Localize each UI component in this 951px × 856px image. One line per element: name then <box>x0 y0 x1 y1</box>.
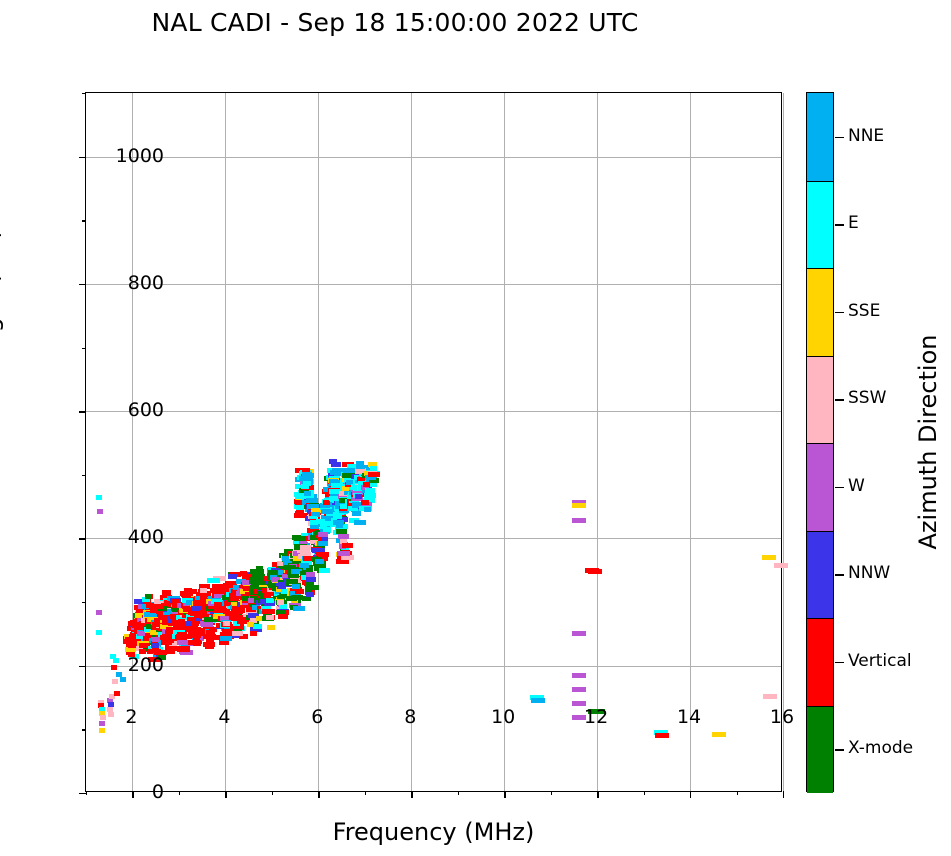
x-tick-mark <box>411 791 412 798</box>
echo-mark <box>303 481 311 486</box>
colorbar-separator <box>807 181 833 182</box>
echo-mark <box>306 592 314 597</box>
colorbar-label-nnw: NNW <box>848 563 890 583</box>
y-tick-mark <box>79 538 86 539</box>
echo-mark <box>363 482 370 487</box>
y-tick-mark <box>79 793 86 794</box>
echo-mark <box>263 593 271 598</box>
echo-mark <box>319 568 330 573</box>
echo-mark <box>291 595 303 600</box>
y-minor-tick <box>82 602 86 603</box>
colorbar-tick <box>835 224 844 225</box>
colorbar-separator <box>807 268 833 269</box>
echo-mark <box>572 687 586 692</box>
echo-mark <box>355 494 362 499</box>
y-tick-mark <box>79 157 86 158</box>
colorbar-segment-w <box>807 443 833 531</box>
colorbar-tick <box>835 487 844 488</box>
y-tick-mark <box>79 284 86 285</box>
colorbar-segment-nnw <box>807 531 833 619</box>
echo-mark <box>203 642 215 647</box>
colorbar-label-w: W <box>848 476 865 496</box>
x-tick-mark <box>225 791 226 798</box>
colorbar <box>806 92 834 792</box>
echo-mark <box>333 514 342 519</box>
gridline-vertical <box>783 93 784 791</box>
echo-mark <box>329 459 337 464</box>
x-tick-mark <box>504 791 505 798</box>
echo-mark <box>120 677 126 682</box>
echo-mark <box>572 518 586 523</box>
x-minor-tick <box>86 791 87 795</box>
echo-mark <box>531 698 545 703</box>
colorbar-segment-x-mode <box>807 706 833 794</box>
echo-mark <box>336 523 343 528</box>
echo-mark <box>266 615 274 620</box>
echo-mark <box>177 647 190 652</box>
colorbar-tick <box>835 574 844 575</box>
colorbar-separator <box>807 531 833 532</box>
echo-mark <box>572 673 586 678</box>
echo-mark <box>712 732 726 737</box>
colorbar-tick <box>835 662 844 663</box>
page-title: NAL CADI - Sep 18 15:00:00 2022 UTC <box>0 8 790 37</box>
ionogram-figure: NAL CADI - Sep 18 15:00:00 2022 UTC Virt… <box>0 0 951 856</box>
echo-mark <box>207 578 220 583</box>
echo-mark <box>253 624 262 629</box>
x-tick-label: 6 <box>311 706 323 728</box>
y-tick-label: 600 <box>128 399 164 421</box>
echo-mark <box>277 600 284 605</box>
echo-mark <box>774 563 788 568</box>
y-minor-tick <box>82 348 86 349</box>
echo-mark <box>256 566 263 571</box>
echo-mark <box>108 712 114 717</box>
colorbar-separator <box>807 356 833 357</box>
echo-mark <box>193 641 201 646</box>
colorbar-tick <box>835 399 844 400</box>
x-tick-label: 8 <box>404 706 416 728</box>
x-axis-label: Frequency (MHz) <box>85 818 782 846</box>
echo-mark <box>763 694 777 699</box>
colorbar-separator <box>807 706 833 707</box>
x-tick-label: 10 <box>491 706 515 728</box>
x-minor-tick <box>272 791 273 795</box>
echo-mark <box>145 594 152 599</box>
colorbar-label-x-mode: X-mode <box>848 738 913 758</box>
echo-mark <box>352 511 361 516</box>
x-tick-label: 2 <box>125 706 137 728</box>
echo-mark <box>368 472 380 477</box>
colorbar-label-vertical: Vertical <box>848 651 912 671</box>
y-tick-label: 400 <box>128 526 164 548</box>
x-tick-mark <box>597 791 598 798</box>
echo-mark <box>306 577 316 582</box>
echo-mark <box>152 637 160 642</box>
x-minor-tick <box>644 791 645 795</box>
echo-mark <box>364 507 371 512</box>
echo-mark <box>220 636 232 641</box>
y-minor-tick <box>82 475 86 476</box>
echo-mark <box>250 631 257 636</box>
x-minor-tick <box>551 791 552 795</box>
echo-mark <box>96 495 102 500</box>
echo-mark <box>223 621 230 626</box>
x-tick-label: 12 <box>584 706 608 728</box>
colorbar-tick <box>835 137 844 138</box>
y-tick-mark <box>79 666 86 667</box>
colorbar-segment-vertical <box>807 618 833 706</box>
echo-mark <box>267 625 275 630</box>
echo-mark <box>263 609 274 614</box>
echo-mark <box>200 621 213 626</box>
echo-mark <box>112 679 118 684</box>
y-minor-tick <box>82 220 86 221</box>
echo-mark <box>288 573 299 578</box>
echo-mark <box>304 491 311 496</box>
echo-mark <box>99 721 105 726</box>
x-minor-tick <box>458 791 459 795</box>
echo-mark <box>162 590 171 595</box>
echo-mark <box>200 588 207 593</box>
y-tick-mark <box>79 411 86 412</box>
echo-mark <box>318 532 328 537</box>
echo-mark <box>96 630 102 635</box>
echo-mark <box>219 640 229 645</box>
echo-mark <box>337 551 350 556</box>
echo-mark <box>232 631 243 636</box>
colorbar-segment-nne <box>807 93 833 181</box>
colorbar-separator <box>807 618 833 619</box>
echo-mark <box>295 589 304 594</box>
x-tick-mark <box>690 791 691 798</box>
colorbar-separator <box>807 443 833 444</box>
echo-mark <box>206 630 214 635</box>
echo-mark <box>294 536 306 541</box>
y-minor-tick <box>82 93 86 94</box>
echo-mark <box>278 614 288 619</box>
echo-mark <box>110 654 116 659</box>
echo-mark <box>655 733 669 738</box>
echo-mark <box>320 524 327 529</box>
echo-mark <box>338 534 349 539</box>
x-minor-tick <box>179 791 180 795</box>
colorbar-label: Azimuth Direction <box>914 232 942 652</box>
y-axis-label: Virtual height (km) <box>0 162 4 522</box>
x-minor-tick <box>365 791 366 795</box>
echo-mark <box>762 555 776 560</box>
echo-mark <box>96 610 102 615</box>
echo-mark <box>340 504 347 509</box>
x-tick-mark <box>318 791 319 798</box>
x-tick-label: 16 <box>770 706 794 728</box>
echo-mark <box>99 728 105 733</box>
echo-mark <box>299 563 309 568</box>
echo-mark <box>192 621 199 626</box>
y-tick-label: 1000 <box>116 145 164 167</box>
colorbar-segment-e <box>807 181 833 269</box>
echo-mark <box>292 584 300 589</box>
echo-mark <box>356 461 364 466</box>
colorbar-segment-sse <box>807 268 833 356</box>
x-tick-mark <box>783 791 784 798</box>
echo-mark <box>317 541 328 546</box>
colorbar-label-nne: NNE <box>848 126 884 146</box>
plot-area <box>85 92 782 792</box>
x-tick-mark <box>132 791 133 798</box>
y-tick-label: 0 <box>152 781 164 803</box>
echo-mark <box>342 543 353 548</box>
echo-mark <box>296 505 304 510</box>
echo-mark <box>364 493 376 498</box>
echo-mark <box>165 649 174 654</box>
y-tick-label: 800 <box>128 272 164 294</box>
echo-mark <box>572 631 586 636</box>
echo-mark <box>315 559 324 564</box>
colorbar-tick <box>835 749 844 750</box>
echo-mark <box>184 588 192 593</box>
echo-mark <box>588 569 602 574</box>
echo-mark <box>354 520 366 525</box>
colorbar-label-e: E <box>848 213 859 233</box>
echo-mark <box>97 509 103 514</box>
colorbar-label-sse: SSE <box>848 301 880 321</box>
echo-mark <box>230 596 238 601</box>
echo-mark <box>200 610 207 615</box>
echo-mark <box>237 608 245 613</box>
echo-mark <box>370 466 377 471</box>
y-minor-tick <box>82 729 86 730</box>
echo-mark <box>365 488 375 493</box>
echo-mark <box>301 550 310 555</box>
x-minor-tick <box>737 791 738 795</box>
echo-mark <box>111 665 117 670</box>
echo-mark <box>114 691 120 696</box>
x-tick-label: 14 <box>677 706 701 728</box>
echo-mark <box>293 606 305 611</box>
colorbar-label-ssw: SSW <box>848 388 886 408</box>
echo-mark <box>572 503 586 508</box>
x-tick-label: 4 <box>218 706 230 728</box>
echo-mark <box>345 468 355 473</box>
echo-mark <box>337 559 346 564</box>
colorbar-tick <box>835 312 844 313</box>
y-tick-label: 200 <box>128 654 164 676</box>
echo-mark <box>361 500 369 505</box>
colorbar-segment-ssw <box>807 356 833 444</box>
echo-mark <box>305 587 312 592</box>
echo-mark <box>228 574 237 579</box>
data-marks-layer <box>86 93 781 791</box>
